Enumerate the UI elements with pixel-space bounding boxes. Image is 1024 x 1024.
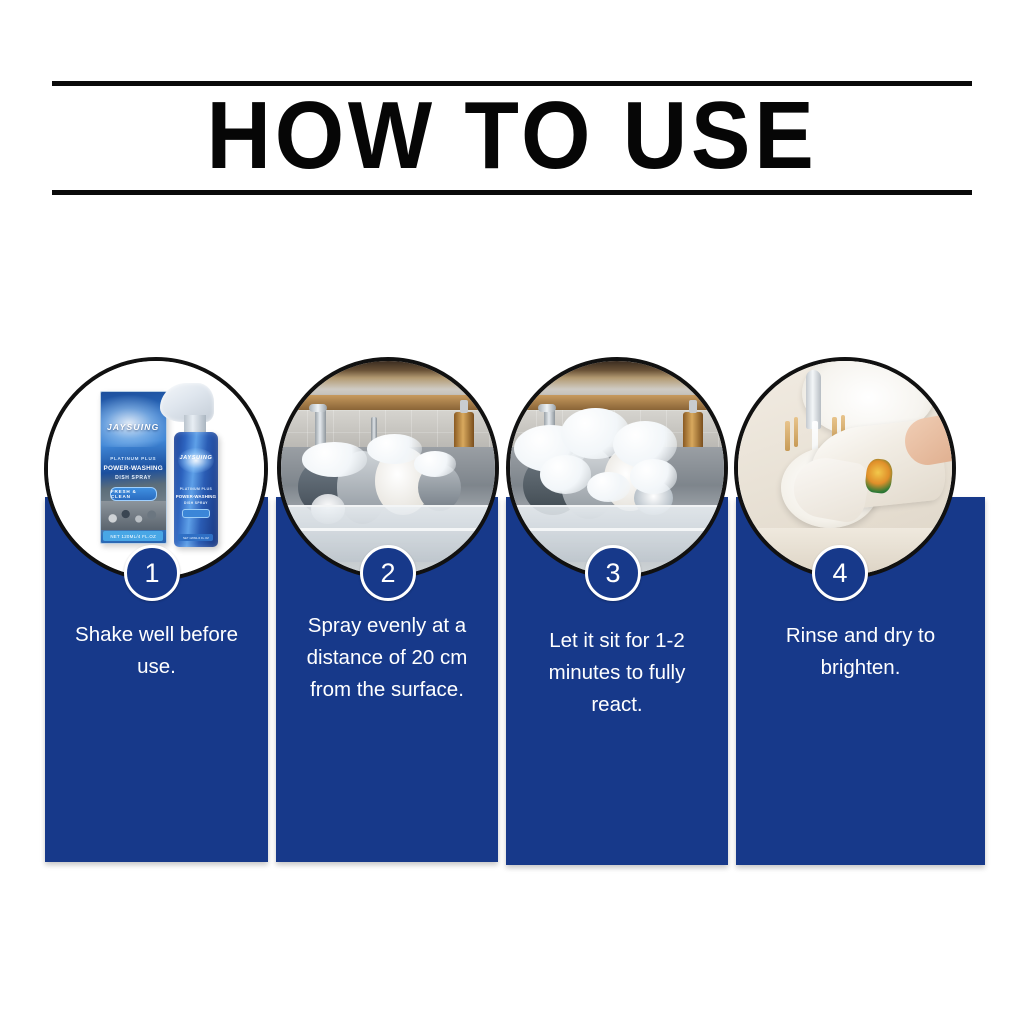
box-glow	[100, 395, 167, 446]
bottle-line-2: POWER-WASHING	[174, 494, 218, 499]
step-caption-1: Shake well before use.	[45, 619, 268, 683]
step-caption-4: Rinse and dry to brighten.	[736, 620, 985, 684]
foam-blob	[630, 459, 677, 493]
step-badge-2: 2	[360, 545, 416, 601]
bottle-line-3: DISH SPRAY	[174, 501, 218, 505]
foamy-dishes-photo	[510, 361, 724, 575]
step-badge-3: 3	[585, 545, 641, 601]
bottle-brand: JAYSUING	[174, 455, 218, 461]
bottle-line-1: PLATINUM PLUS	[174, 487, 218, 491]
box-net-content: NET 120ML/4 FL.OZ	[103, 531, 163, 541]
step-badge-4: 4	[812, 545, 868, 601]
step-badge-1: 1	[124, 545, 180, 601]
box-line-1: PLATINUM PLUS	[101, 456, 166, 461]
spray-bottle: JAYSUING PLATINUM PLUS POWER-WASHING DIS…	[171, 383, 221, 547]
rinsing-hands-photo	[738, 361, 952, 575]
step-number-2: 2	[380, 558, 395, 589]
utensil-icon	[785, 421, 790, 451]
foam-blob	[540, 455, 591, 494]
foam-blob	[414, 451, 457, 477]
dirty-dishes-photo	[281, 361, 495, 575]
poster-canvas: HOW TO USE Shake well before use. JAYSUI…	[0, 0, 1024, 1024]
bottle-net-content: NET 120ML/4 FL.OZ	[178, 534, 213, 541]
step-caption-2: Spray evenly at a distance of 20 cm from…	[276, 610, 498, 705]
step-number-3: 3	[605, 558, 620, 589]
bottle-body: JAYSUING PLATINUM PLUS POWER-WASHING DIS…	[174, 432, 218, 547]
product-box: JAYSUING PLATINUM PLUS POWER-WASHING DIS…	[100, 391, 167, 544]
step-number-4: 4	[832, 558, 847, 589]
step-caption-3: Let it sit for 1-2 minutes to fully reac…	[506, 625, 728, 720]
utensil-icon	[794, 417, 799, 447]
foam-blob	[587, 472, 630, 502]
box-line-3: DISH SPRAY	[101, 475, 166, 481]
box-fresh-clean-badge: FRESH & CLEAN	[110, 487, 157, 501]
title-rule-bottom	[52, 190, 972, 195]
page-title: HOW TO USE	[84, 83, 940, 189]
box-line-2: POWER-WASHING	[101, 465, 166, 472]
box-dishes-art	[101, 501, 166, 530]
box-brand: JAYSUING	[101, 422, 166, 432]
bottle-badge	[182, 509, 210, 518]
foam-blob	[302, 442, 366, 476]
step-number-1: 1	[144, 558, 159, 589]
